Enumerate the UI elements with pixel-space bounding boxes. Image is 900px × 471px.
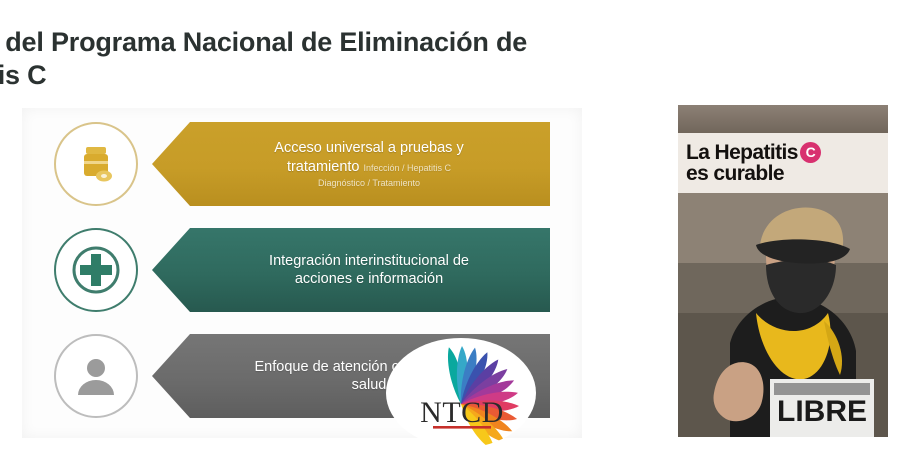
photo-banner: La Hepatitis C es curable bbox=[678, 133, 888, 193]
svg-text:LIBRE: LIBRE bbox=[777, 395, 867, 428]
medical-cross-icon bbox=[54, 228, 138, 312]
svg-text:NTCD: NTCD bbox=[420, 396, 504, 429]
diagram-bar-1-inline-sub: Infección / Hepatitis C bbox=[364, 163, 452, 173]
diagram-bar-2[interactable]: Integración interinstitucional de accion… bbox=[152, 228, 550, 312]
ntcd-logo: NTCD bbox=[386, 338, 536, 448]
pill-bottle-icon bbox=[54, 122, 138, 206]
hepatitis-c-badge: C bbox=[800, 142, 821, 163]
diagram-row-2[interactable]: Integración interinstitucional de accion… bbox=[22, 224, 582, 316]
diagram-bar-1-line2: tratamiento bbox=[287, 159, 360, 175]
diagram-bar-2-line1: Integración interinstitucional de bbox=[269, 253, 469, 269]
page-title: res del Programa Nacional de Eliminación… bbox=[0, 26, 878, 92]
diagram-bar-1-line1: Acceso universal a pruebas y bbox=[274, 140, 463, 156]
diagram-bar-2-line2: acciones e información bbox=[295, 271, 443, 287]
photo-scene: LIBRE bbox=[678, 193, 888, 437]
hepatitis-campaign-photo: La Hepatitis C es curable bbox=[678, 105, 888, 437]
diagram-bar-1[interactable]: Acceso universal a pruebas y tratamiento… bbox=[152, 122, 550, 206]
diagram-row-1[interactable]: Acceso universal a pruebas y tratamiento… bbox=[22, 118, 582, 210]
slide-canvas: res del Programa Nacional de Eliminación… bbox=[0, 0, 900, 471]
photo-wall-top bbox=[678, 105, 888, 135]
banner-line2: es curable bbox=[686, 163, 784, 184]
banner-line1: La Hepatitis bbox=[686, 142, 798, 163]
person-icon bbox=[54, 334, 138, 418]
diagram-bar-1-sub: Diagnóstico / Tratamiento bbox=[318, 178, 420, 189]
diagram-bar-3-line2: salud bbox=[352, 377, 387, 393]
